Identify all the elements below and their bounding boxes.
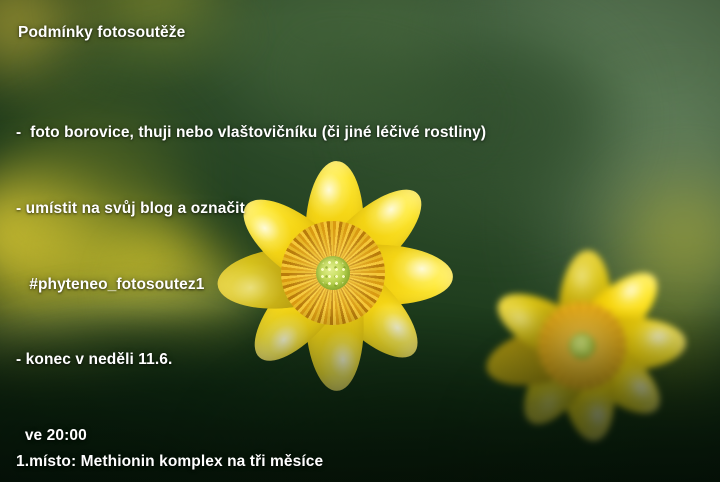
rule-item-blog: - umístit na svůj blog a označit: [16, 196, 486, 221]
rule-item-hashtag: #phyteneo_fotosoutez1: [16, 272, 486, 297]
prizes-list: 1.místo: Methionin komplex na tři měsíce…: [16, 398, 340, 482]
page-title: Podmínky fotosoutěže: [18, 23, 185, 42]
rule-item-deadline: - konec v neděli 11.6.: [16, 347, 486, 372]
text-overlay: Podmínky fotosoutěže - foto borovice, th…: [0, 0, 720, 482]
prize-item-first: 1.místo: Methionin komplex na tři měsíce: [16, 449, 340, 475]
poster: Podmínky fotosoutěže - foto borovice, th…: [0, 0, 720, 482]
rule-item-photo: - foto borovice, thuji nebo vlaštovičník…: [16, 120, 486, 145]
